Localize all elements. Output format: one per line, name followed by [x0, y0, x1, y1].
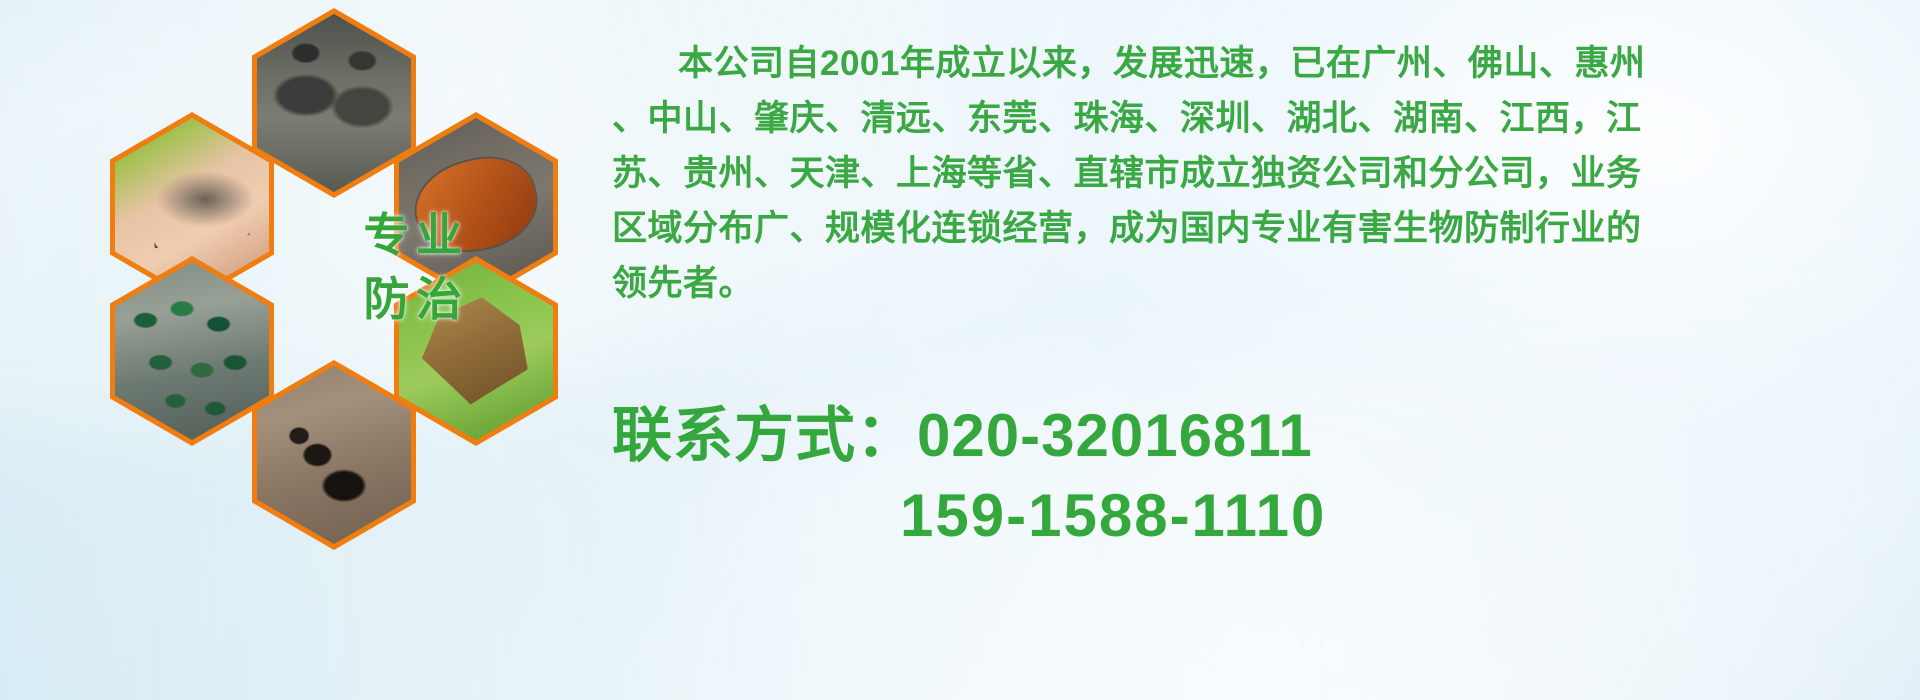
contact-block: 联系方式：020-32016811 159-1588-1110	[612, 398, 1912, 554]
hex-cell-rats[interactable]	[252, 8, 416, 198]
hex-cell-ant[interactable]	[252, 360, 416, 550]
banner-stage: 专业 防治 本公司自2001年成立以来，发展迅速，已在广州、佛山、惠州 、中山、…	[0, 0, 1920, 700]
company-description: 本公司自2001年成立以来，发展迅速，已在广州、佛山、惠州 、中山、肇庆、清远、…	[612, 36, 1902, 311]
flies-photo	[115, 262, 269, 440]
description-line: 领先者。	[612, 256, 1902, 311]
description-line: 本公司自2001年成立以来，发展迅速，已在广州、佛山、惠州	[612, 36, 1902, 91]
hex-cell-flies[interactable]	[110, 256, 274, 446]
badge-line-2: 防治	[336, 272, 496, 326]
description-line: 区域分布广、规模化连锁经营，成为国内专业有害生物防制行业的	[612, 201, 1902, 256]
rats-photo	[257, 14, 411, 192]
contact-primary-phone[interactable]: 联系方式：020-32016811	[612, 398, 1912, 474]
description-line: 、中山、肇庆、清远、东莞、珠海、深圳、湖北、湖南、江西，江	[612, 91, 1902, 146]
ant-photo	[257, 366, 411, 544]
honeycomb-collage: 专业 防治	[86, 8, 586, 568]
description-line: 苏、贵州、天津、上海等省、直辖市成立独资公司和分公司，业务	[612, 146, 1902, 201]
badge-text: 专业 防治	[336, 208, 496, 327]
contact-secondary-phone[interactable]: 159-1588-1110	[612, 478, 1912, 554]
badge-line-1: 专业	[364, 209, 469, 261]
